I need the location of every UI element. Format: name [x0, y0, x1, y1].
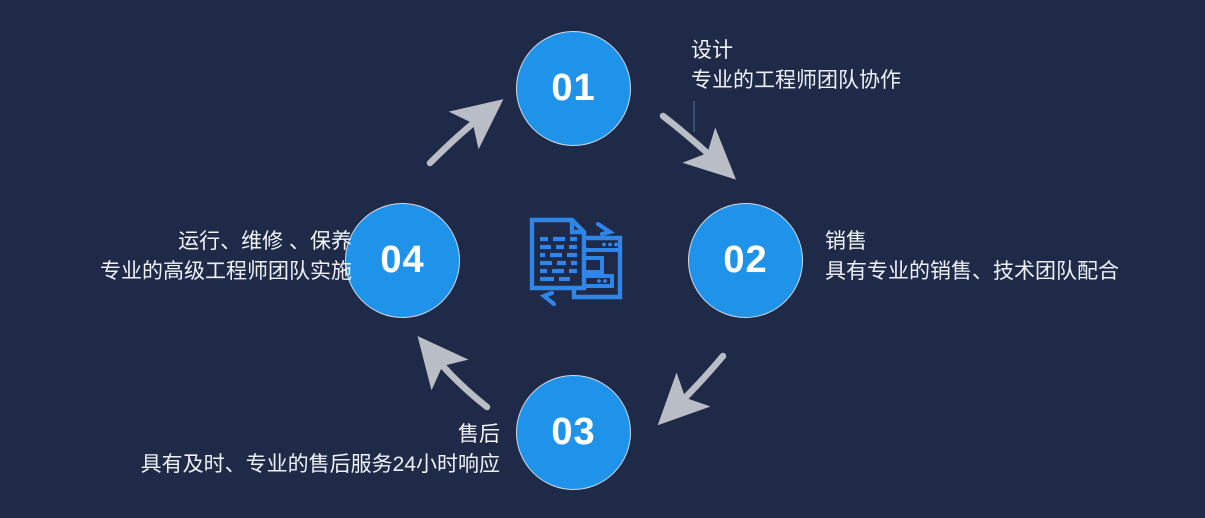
step-label-04: 运行、维修 、保养 专业的高级工程师团队实施	[100, 227, 352, 287]
step-title-02: 销售	[825, 227, 1119, 257]
arrow-01-to-02	[663, 116, 716, 161]
label-tick-mark	[693, 101, 695, 132]
step-number-02: 02	[723, 239, 767, 282]
step-desc-04: 专业的高级工程师团队实施	[100, 257, 352, 287]
arrow-04-to-01	[430, 116, 482, 163]
step-node-02[interactable]: 02	[688, 203, 803, 318]
step-desc-03: 具有及时、专业的售后服务24小时响应	[141, 450, 500, 480]
step-node-04[interactable]: 04	[345, 203, 460, 318]
arrow-02-to-03	[677, 356, 723, 406]
step-label-02: 销售 具有专业的销售、技术团队配合	[825, 227, 1119, 287]
step-number-03: 03	[551, 411, 595, 454]
step-desc-01: 专业的工程师团队协作	[691, 66, 901, 96]
step-title-01: 设计	[691, 36, 901, 66]
step-title-04: 运行、维修 、保养	[100, 227, 352, 257]
document-sync-icon	[520, 208, 630, 318]
step-number-01: 01	[551, 67, 595, 110]
step-label-03: 售后 具有及时、专业的售后服务24小时响应	[141, 420, 500, 480]
step-node-03[interactable]: 03	[516, 375, 631, 490]
step-node-01[interactable]: 01	[516, 31, 631, 146]
step-desc-02: 具有专业的销售、技术团队配合	[825, 257, 1119, 287]
cycle-diagram-canvas: 01 02 03 04 设计 专业的工程师团队协作 销售 具有专业的销售、技术团…	[0, 0, 1205, 518]
step-title-03: 售后	[141, 420, 500, 450]
arrow-03-to-04	[435, 357, 487, 407]
step-label-01: 设计 专业的工程师团队协作	[691, 36, 901, 96]
step-number-04: 04	[380, 239, 424, 282]
